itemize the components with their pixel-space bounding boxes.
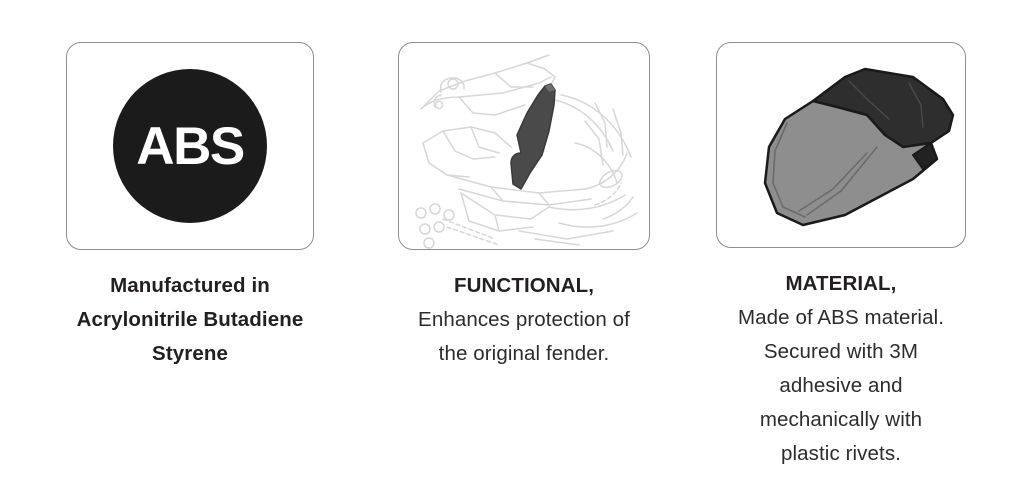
feature-icon-card-abs: ABS: [66, 42, 314, 250]
feature-caption-abs: Manufactured in Acrylonitrile Butadiene …: [77, 269, 304, 371]
feature-caption-line: Made of ABS material.: [738, 301, 944, 335]
fender-extension-part-shape: [511, 84, 555, 189]
feature-caption-material: MATERIAL, Made of ABS material. Secured …: [738, 267, 944, 471]
feature-item-functional: FUNCTIONAL, Enhances protection of the o…: [374, 0, 674, 371]
feature-caption-line: Secured with 3M: [738, 335, 944, 369]
fender-extension-product-icon: [717, 43, 966, 248]
feature-list: ABS Manufactured in Acrylonitrile Butadi…: [0, 0, 1024, 471]
motorcycle-fender-sketch-icon: [399, 43, 650, 250]
feature-caption-line: Acrylonitrile Butadiene: [77, 303, 304, 337]
abs-badge-icon: ABS: [113, 69, 267, 223]
feature-caption-lead: Manufactured in: [77, 269, 304, 303]
feature-icon-card-functional: [398, 42, 650, 250]
feature-item-material: MATERIAL, Made of ABS material. Secured …: [686, 0, 996, 471]
feature-caption-lead: MATERIAL,: [738, 267, 944, 301]
feature-caption-functional: FUNCTIONAL, Enhances protection of the o…: [418, 269, 630, 371]
feature-caption-line: the original fender.: [418, 337, 630, 371]
feature-caption-line: mechanically with: [738, 403, 944, 437]
feature-caption-line: Enhances protection of: [418, 303, 630, 337]
feature-highlights-board: ABS Manufactured in Acrylonitrile Butadi…: [0, 0, 1024, 503]
abs-badge-label: ABS: [136, 120, 243, 173]
feature-caption-line: adhesive and: [738, 369, 944, 403]
feature-caption-lead: FUNCTIONAL,: [418, 269, 630, 303]
feature-item-abs-material: ABS Manufactured in Acrylonitrile Butadi…: [20, 0, 360, 371]
feature-icon-card-material: [716, 42, 966, 248]
feature-caption-line: plastic rivets.: [738, 437, 944, 471]
feature-caption-line: Styrene: [77, 337, 304, 371]
